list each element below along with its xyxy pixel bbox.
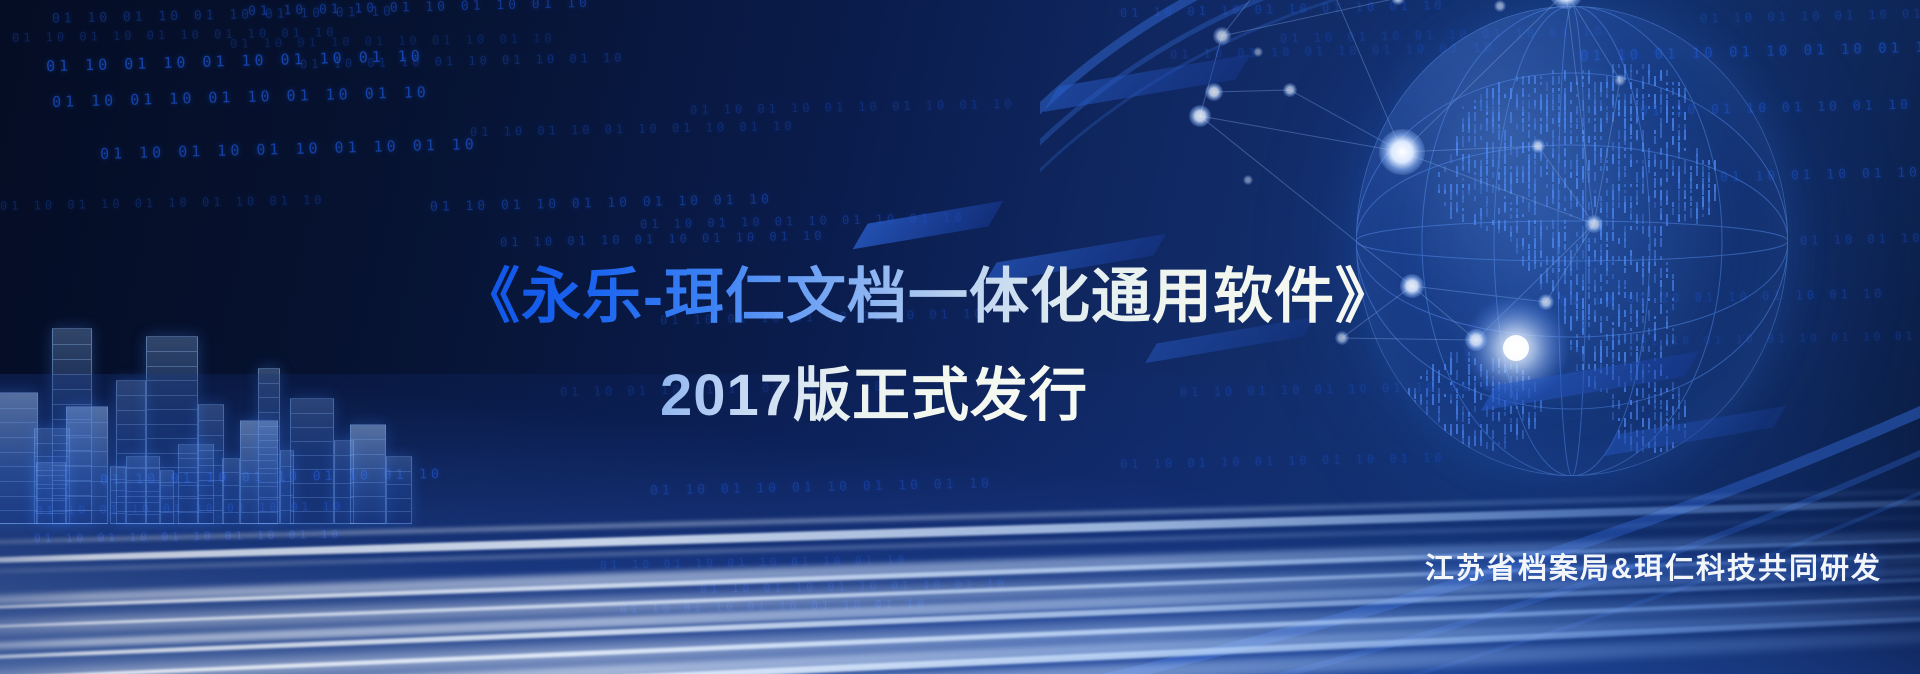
promo-banner: 01 10 01 10 01 10 01 10 01 1001 10 01 10…	[0, 0, 1920, 674]
page-title: 《永乐-珥仁文档一体化通用软件》	[460, 248, 1396, 335]
page-subtitle: 2017版正式发行	[660, 348, 1088, 432]
tagline: 江苏省档案局&珥仁科技共同研发	[1425, 545, 1882, 587]
